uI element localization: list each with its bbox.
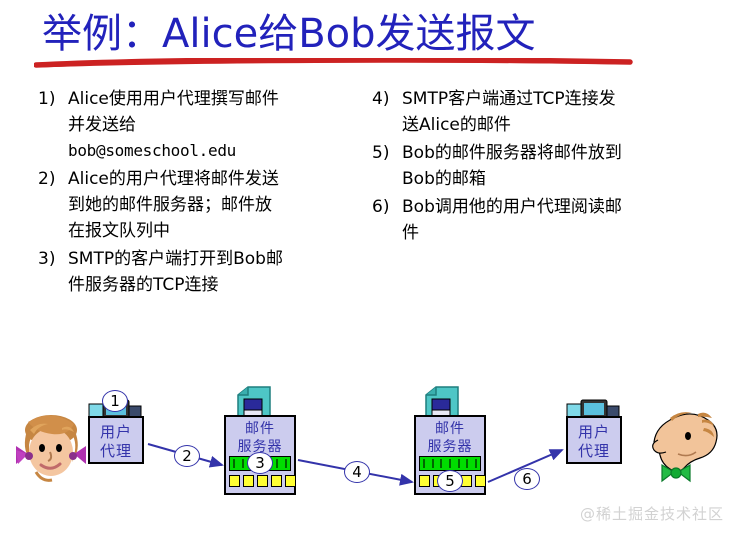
list-item: 6) Bob调用他的用户代理阅读邮 件 (372, 194, 702, 246)
marker-4: 4 (344, 461, 370, 483)
list-item-line: 在报文队列中 (68, 218, 368, 244)
list-item-line: Alice的用户代理将邮件发送 (68, 166, 368, 192)
list-item-line: 件 (402, 220, 702, 246)
receiver-message-queue (419, 456, 481, 471)
watermark: @稀土掘金技术社区 (580, 503, 724, 524)
title-block: 举例：Alice给Bob发送报文 (42, 8, 702, 70)
list-item-line: Bob的邮件服务器将邮件放到 (402, 140, 702, 166)
steps-column-left: 1) Alice使用用户代理撰写邮件 并发送给 bob@someschool.e… (38, 86, 368, 300)
ua-label-line1: 用户 (90, 423, 142, 442)
list-item-line: SMTP客户端通过TCP连接发 (402, 86, 702, 112)
list-item-number: 5) (372, 140, 398, 166)
list-item-line: Alice使用用户代理撰写邮件 (68, 86, 368, 112)
list-item: 3) SMTP的客户端打开到Bob邮 件服务器的TCP连接 (38, 246, 368, 298)
ua-label-line2: 代理 (90, 442, 142, 461)
list-item: 5) Bob的邮件服务器将邮件放到 Bob的邮箱 (372, 140, 702, 192)
list-item-number: 1) (38, 86, 64, 112)
list-item-line: 并发送给 (68, 112, 368, 138)
list-item-number: 3) (38, 246, 64, 272)
title-underline (34, 58, 646, 70)
sender-mailbox-row (229, 475, 296, 487)
steps-column-right: 4) SMTP客户端通过TCP连接发 送Alice的邮件 5) Bob的邮件服务… (372, 86, 702, 248)
list-item-line: SMTP的客户端打开到Bob邮 (68, 246, 368, 272)
ms-label-line2: 服务器 (416, 438, 484, 456)
bob-clipart (644, 406, 724, 494)
page-title: 举例：Alice给Bob发送报文 (42, 8, 702, 60)
list-item-line: 送Alice的邮件 (402, 112, 702, 138)
receiver-user-agent-box[interactable]: 用户 代理 (566, 416, 622, 464)
list-item-number: 6) (372, 194, 398, 220)
list-item-number: 4) (372, 86, 398, 112)
marker-3: 3 (247, 452, 273, 474)
marker-6: 6 (514, 468, 540, 490)
list-item: 2) Alice的用户代理将邮件发送 到她的邮件服务器；邮件放 在报文队列中 (38, 166, 368, 244)
marker-5: 5 (437, 470, 463, 492)
ms-label-line1: 邮件 (226, 420, 294, 438)
list-item: 4) SMTP客户端通过TCP连接发 送Alice的邮件 (372, 86, 702, 138)
email-address-text: bob@someschool.edu (68, 138, 368, 164)
marker-2: 2 (174, 445, 200, 467)
ua-label-line2: 代理 (568, 442, 620, 461)
sender-user-agent-box[interactable]: 用户 代理 (88, 416, 144, 464)
ua-label-line1: 用户 (568, 423, 620, 442)
list-item-line: Bob的邮箱 (402, 166, 702, 192)
list-item-number: 2) (38, 166, 64, 192)
list-item-line: Bob调用他的用户代理阅读邮 (402, 194, 702, 220)
alice-clipart (14, 410, 86, 496)
marker-1: 1 (102, 390, 128, 412)
list-item-line: 件服务器的TCP连接 (68, 272, 368, 298)
list-item: 1) Alice使用用户代理撰写邮件 并发送给 bob@someschool.e… (38, 86, 368, 164)
list-item-line: 到她的邮件服务器；邮件放 (68, 192, 368, 218)
ms-label-line1: 邮件 (416, 420, 484, 438)
